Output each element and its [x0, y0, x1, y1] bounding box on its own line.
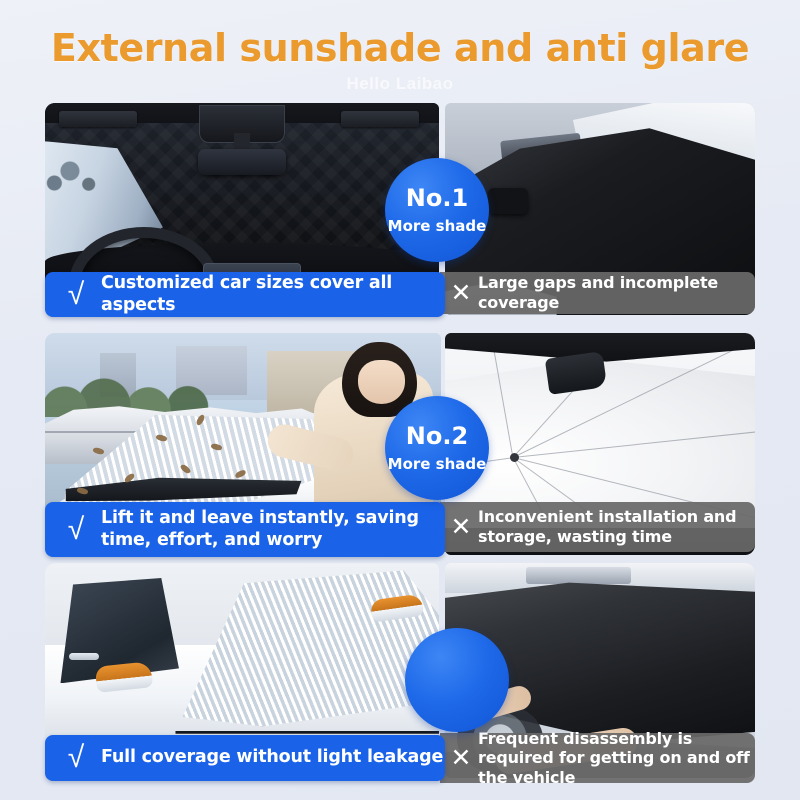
check-icon: √: [59, 743, 93, 773]
sun-visor-right: [341, 111, 419, 127]
benefit-label-2: √ Lift it and leave instantly, saving ti…: [45, 502, 445, 557]
door-handle: [69, 653, 99, 660]
rank-badge-3: [405, 628, 509, 732]
page-header: External sunshade and anti glare Hello L…: [0, 0, 800, 100]
close-icon: ✕: [448, 746, 474, 771]
drawback-label-3: ✕ Frequent disassembly is required for g…: [440, 733, 755, 783]
drawback-label-1: ✕ Large gaps and incomplete coverage: [440, 272, 755, 314]
sun-visor-left: [59, 111, 137, 127]
rank-badge-1-rank: No.1: [406, 185, 468, 211]
brand-watermark: Hello Laibao: [0, 74, 800, 94]
rank-badge-2-sub: More shade: [388, 455, 487, 473]
benefit-label-3-text: Full coverage without light leakage: [101, 747, 443, 768]
rank-badge-2-rank: No.2: [406, 423, 468, 449]
check-icon: √: [59, 515, 93, 545]
drawback-label-3-text: Frequent disassembly is required for get…: [478, 729, 755, 788]
snow-trees: [45, 147, 123, 207]
roof-rail: [526, 567, 631, 584]
page-title: External sunshade and anti glare: [0, 26, 800, 70]
rank-badge-1-sub: More shade: [388, 217, 487, 235]
drawback-label-2: ✕ Inconvenient installation and storage,…: [440, 502, 755, 552]
close-icon: ✕: [448, 515, 474, 540]
rearview-mirror: [488, 188, 528, 214]
close-icon: ✕: [448, 281, 474, 306]
benefit-label-1-text: Customized car sizes cover all aspects: [101, 273, 445, 316]
rank-badge-1: No.1 More shade: [385, 158, 489, 262]
benefit-label-2-text: Lift it and leave instantly, saving time…: [101, 508, 445, 551]
check-icon: √: [59, 280, 93, 310]
drawback-label-2-text: Inconvenient installation and storage, w…: [478, 507, 755, 546]
benefit-label-3: √ Full coverage without light leakage: [45, 735, 445, 781]
drawback-label-1-text: Large gaps and incomplete coverage: [478, 273, 755, 312]
benefit-label-1: √ Customized car sizes cover all aspects: [45, 272, 445, 317]
umbrella-hub: [510, 453, 519, 462]
rank-badge-2: No.2 More shade: [385, 396, 489, 500]
rearview-mirror: [198, 149, 286, 175]
woman-face: [358, 360, 406, 404]
